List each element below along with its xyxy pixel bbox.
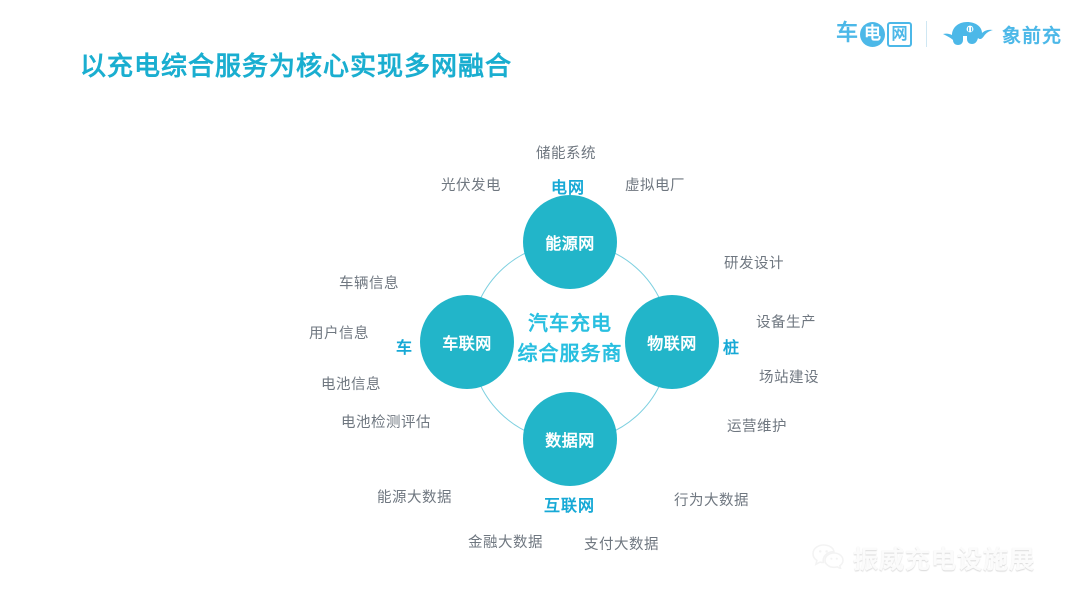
axis-label-grid: 电网	[551, 174, 585, 198]
satellite-finance-bigdata: 金融大数据	[468, 531, 543, 552]
satellite-vehicle-info: 车辆信息	[339, 272, 399, 293]
node-energy-network[interactable]: 能源网	[523, 195, 617, 289]
satellite-equipment-manufacturing: 设备生产	[756, 311, 816, 332]
satellite-behavior-bigdata: 行为大数据	[674, 489, 749, 510]
satellite-battery-testing: 电池检测评估	[341, 411, 431, 432]
satellite-rnd-design: 研发设计	[724, 252, 784, 273]
axis-label-internet: 互联网	[544, 492, 595, 516]
network-convergence-diagram: 能源网 车联网 物联网 数据网 汽车充电 综合服务商 电网 车 桩 互联网 储能…	[0, 0, 1080, 608]
satellite-operation-maintenance: 运营维护	[727, 415, 787, 436]
axis-label-pile: 桩	[723, 334, 740, 358]
satellite-station-construction: 场站建设	[759, 366, 819, 387]
slide-root: 车 电 网 象前充 以充电综合服务为核心实现多网融合 能源网 车联网 物联网 数…	[0, 0, 1080, 608]
satellite-pv-generation: 光伏发电	[441, 174, 501, 195]
wechat-icon	[812, 543, 844, 573]
diagram-core-label: 汽车充电 综合服务商	[500, 308, 640, 368]
node-data-network[interactable]: 数据网	[523, 392, 617, 486]
satellite-storage-system: 储能系统	[536, 142, 596, 163]
watermark: 振威充电设施展	[812, 540, 1035, 576]
satellite-virtual-powerplant: 虚拟电厂	[625, 174, 685, 195]
satellite-user-info: 用户信息	[309, 322, 369, 343]
satellite-energy-bigdata: 能源大数据	[377, 486, 452, 507]
satellite-battery-info: 电池信息	[321, 373, 381, 394]
core-line-1: 汽车充电	[500, 308, 640, 338]
axis-label-car: 车	[396, 334, 413, 358]
satellite-payment-bigdata: 支付大数据	[584, 533, 659, 554]
watermark-label: 振威充电设施展	[853, 540, 1035, 576]
core-line-2: 综合服务商	[500, 338, 640, 368]
